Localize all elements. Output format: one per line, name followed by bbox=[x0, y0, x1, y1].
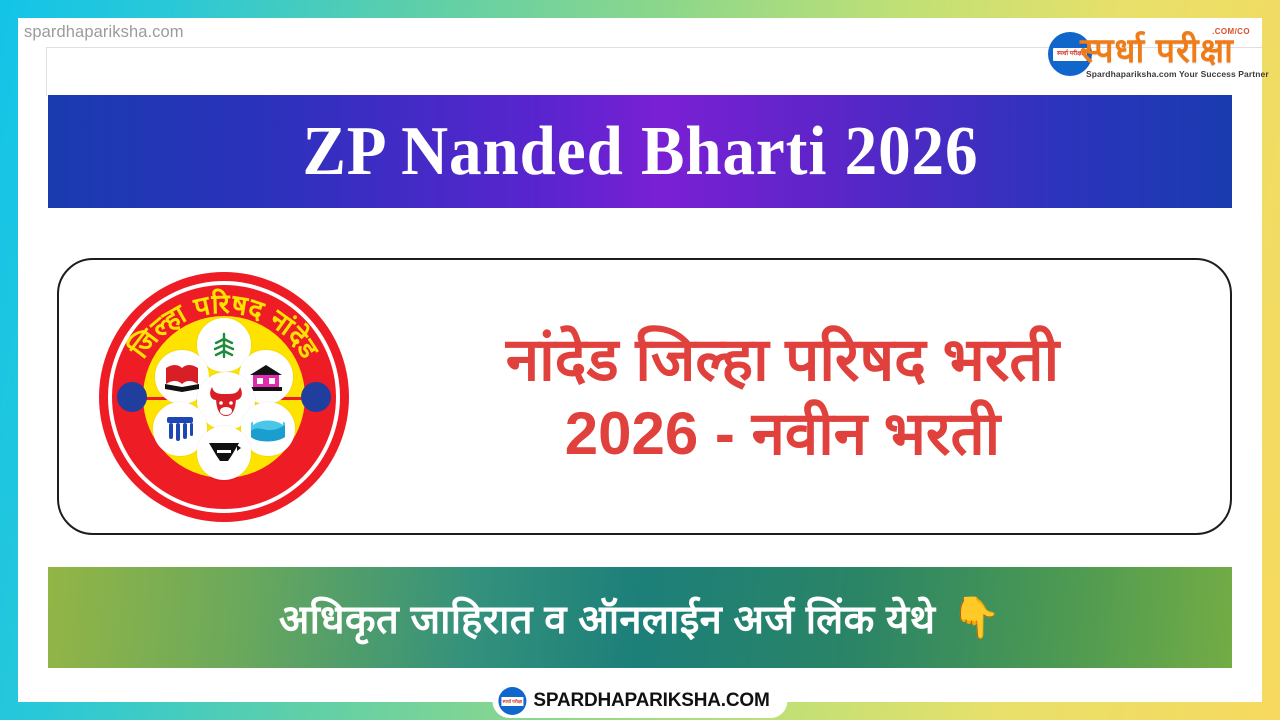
brand-pill-badge-text: स्पर्धा परीक्षा bbox=[501, 697, 523, 706]
brand-logo-tld: .COM/CO bbox=[1212, 27, 1250, 36]
site-header: spardhapariksha.com स्पर्धा परीक्षा स्पर… bbox=[18, 18, 1262, 96]
brand-pill-badge-icon: स्पर्धा परीक्षा bbox=[498, 687, 526, 715]
brand-pill-label: SPARDHAPARIKSHA.COM bbox=[533, 690, 769, 712]
brand-logo-tagline: Spardhapariksha.com Your Success Partner bbox=[1086, 69, 1269, 79]
anvil-icon bbox=[197, 426, 251, 480]
brand-logo-wordmark: स्पर्धा परीक्षा bbox=[1080, 26, 1234, 72]
emblem-dot-left bbox=[117, 382, 147, 412]
headline-block: नांदेड जिल्हा परिषद भरती 2026 - नवीन भरत… bbox=[349, 323, 1230, 469]
page-card: spardhapariksha.com स्पर्धा परीक्षा स्पर… bbox=[18, 18, 1262, 702]
emblem-dot-right bbox=[301, 382, 331, 412]
poster-root: spardhapariksha.com स्पर्धा परीक्षा स्पर… bbox=[0, 0, 1280, 720]
cta-text: अधिकृत जाहिरात व ऑनलाईन अर्ज लिंक येथे bbox=[279, 590, 936, 645]
brand-logo: स्पर्धा परीक्षा स्पर्धा परीक्षा .COM/CO … bbox=[1030, 24, 1252, 86]
pointing-down-hand-icon: 👇 bbox=[951, 598, 1001, 638]
emblem-icon-cluster bbox=[149, 322, 299, 472]
zp-nanded-emblem-icon: जिल्हा परिषद नांदेड bbox=[99, 272, 349, 522]
headline-line-2: 2026 - नवीन भरती bbox=[359, 397, 1206, 470]
page-title: ZP Nanded Bharti 2026 bbox=[302, 112, 978, 192]
content-box: जिल्हा परिषद नांदेड bbox=[57, 258, 1232, 535]
title-banner: ZP Nanded Bharti 2026 bbox=[48, 95, 1232, 208]
brand-pill[interactable]: स्पर्धा परीक्षा SPARDHAPARIKSHA.COM bbox=[492, 684, 787, 718]
cta-bar[interactable]: अधिकृत जाहिरात व ऑनलाईन अर्ज लिंक येथे 👇 bbox=[48, 567, 1232, 668]
site-url-label: spardhapariksha.com bbox=[24, 23, 184, 42]
headline-line-1: नांदेड जिल्हा परिषद भरती bbox=[359, 323, 1206, 396]
